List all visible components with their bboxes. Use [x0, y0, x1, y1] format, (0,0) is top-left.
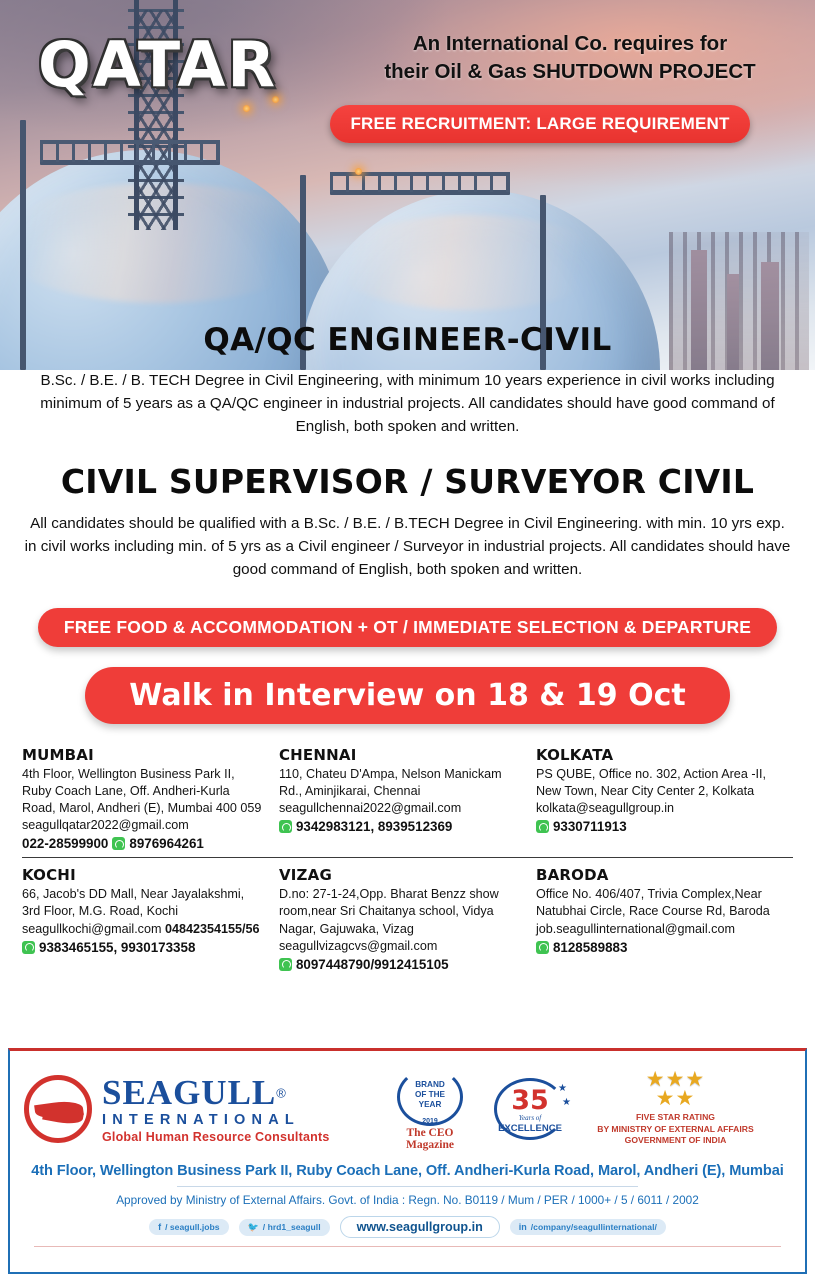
office-mumbai: MUMBAI 4th Floor, Wellington Business Pa… [22, 746, 279, 852]
whatsapp-icon [22, 941, 35, 954]
whatsapp-icon [279, 820, 292, 833]
office-email[interactable]: seagullchennai2022@gmail.com [279, 800, 522, 817]
linkedin-icon: in [519, 1222, 527, 1232]
flare-light-c [355, 168, 362, 175]
footer-approval-text: Approved by Ministry of External Affairs… [10, 1187, 805, 1207]
job-title-1: QA/QC ENGINEER-CIVIL [18, 322, 797, 358]
laurel-wreath-icon: BRAND OF THE YEAR 2019 [397, 1068, 463, 1126]
facebook-link[interactable]: f / seagull.jobs [149, 1219, 228, 1235]
office-phone[interactable]: 04842354155/56 [165, 922, 260, 936]
footer-address: 4th Floor, Wellington Business Park II, … [10, 1159, 805, 1179]
office-city: KOLKATA [536, 746, 779, 764]
whatsapp-icon [112, 837, 125, 850]
walkin-interview-badge: Walk in Interview on 18 & 19 Oct [85, 667, 729, 724]
boty-line-1: BRAND [400, 1080, 460, 1090]
office-phone-line[interactable]: 9383465155, 9930173358 [22, 940, 265, 955]
registered-trademark-icon: ® [276, 1086, 286, 1101]
hero-banner: QATAR An International Co. requires for … [0, 0, 815, 370]
office-phone-line[interactable]: 8128589883 [536, 940, 779, 955]
logo-subtitle: INTERNATIONAL [102, 1113, 329, 1128]
free-recruitment-badge: FREE RECRUITMENT: LARGE REQUIREMENT [330, 105, 750, 143]
whatsapp-icon [536, 941, 549, 954]
office-address: Office No. 406/407, Trivia Complex,Near … [536, 886, 779, 920]
star-row-bottom-icon: ★★ [588, 1090, 763, 1109]
logo-tagline: Global Human Resource Consultants [102, 1131, 329, 1144]
logo-text-block: SEAGULL® INTERNATIONAL Global Human Reso… [102, 1075, 329, 1143]
office-city: CHENNAI [279, 746, 522, 764]
boty-source: The CEO Magazine [388, 1127, 472, 1151]
office-address: PS QUBE, Office no. 302, Action Area -II… [536, 766, 779, 800]
offer-banner-area: FREE FOOD & ACCOMMODATION + OT / IMMEDIA… [0, 582, 815, 647]
advertisement-page: QATAR An International Co. requires for … [0, 0, 815, 1280]
linkedin-link[interactable]: in /company/seagullinternational/ [510, 1219, 666, 1235]
offer-badge: FREE FOOD & ACCOMMODATION + OT / IMMEDIA… [38, 608, 777, 647]
five-star-line-1: FIVE STAR RATING [588, 1112, 763, 1124]
company-footer: SEAGULL® INTERNATIONAL Global Human Reso… [8, 1048, 807, 1274]
social-links-bar: f / seagull.jobs 🐦 / hrd1_seagull www.se… [10, 1207, 805, 1238]
twitter-handle: / hrd1_seagull [263, 1222, 321, 1232]
logo-wordmark: SEAGULL [102, 1075, 276, 1110]
years-excellence-badge: 35 Years of EXCELLENCE ★ ★ [490, 1078, 570, 1140]
office-city: KOCHI [22, 866, 265, 884]
facebook-handle: / seagull.jobs [165, 1222, 219, 1232]
job-listings: QA/QC ENGINEER-CIVIL B.Sc. / B.E. / B. T… [0, 322, 815, 582]
office-baroda: BARODA Office No. 406/407, Trivia Comple… [536, 866, 793, 972]
years-number: 35 [497, 1087, 563, 1114]
five-star-text: FIVE STAR RATING BY MINISTRY OF EXTERNAL… [588, 1112, 763, 1147]
seagull-logo: SEAGULL® INTERNATIONAL Global Human Reso… [24, 1075, 374, 1143]
office-email[interactable]: seagullvizagcvs@gmail.com [279, 938, 522, 955]
star-accent-icon: ★ [558, 1083, 567, 1094]
office-whatsapp[interactable]: 8976964261 [129, 836, 203, 851]
five-star-line-3: GOVERNMENT OF INDIA [588, 1135, 763, 1147]
headline-line-1: An International Co. requires for [350, 30, 790, 58]
boty-line-3: YEAR [400, 1100, 460, 1110]
office-address: 110, Chateu D'Ampa, Nelson Manickam Rd.,… [279, 766, 522, 800]
office-kolkata: KOLKATA PS QUBE, Office no. 302, Action … [536, 746, 793, 852]
office-address: 66, Jacob's DD Mall, Near Jayalakshmi, 3… [22, 886, 265, 920]
office-whatsapp[interactable]: 9383465155, 9930173358 [39, 940, 195, 955]
seagull-bird-icon [24, 1075, 92, 1143]
whatsapp-icon [536, 820, 549, 833]
contact-offices: MUMBAI 4th Floor, Wellington Business Pa… [0, 746, 815, 972]
flare-light-a [243, 105, 250, 112]
brand-of-the-year-badge: BRAND OF THE YEAR 2019 The CEO Magazine [388, 1068, 472, 1151]
office-chennai: CHENNAI 110, Chateu D'Ampa, Nelson Manic… [279, 746, 536, 852]
office-email[interactable]: seagullqatar2022@gmail.com [22, 817, 265, 834]
office-phone[interactable]: 022-28599900 [22, 836, 108, 851]
tank-highlight-right [330, 215, 610, 310]
award-badges: BRAND OF THE YEAR 2019 The CEO Magazine … [388, 1068, 763, 1151]
office-phone-line[interactable]: 022-28599900 8976964261 [22, 836, 265, 851]
job-description-1: B.Sc. / B.E. / B. TECH Degree in Civil E… [18, 370, 797, 438]
five-star-line-2: BY MINISTRY OF EXTERNAL AFFAIRS [588, 1124, 763, 1136]
contact-row-top: MUMBAI 4th Floor, Wellington Business Pa… [22, 746, 793, 859]
footer-bottom-rule [34, 1246, 781, 1247]
star-accent-icon-2: ★ [562, 1097, 571, 1108]
boty-line-2: OF THE [400, 1090, 460, 1100]
country-title: QATAR [38, 28, 277, 101]
office-kochi: KOCHI 66, Jacob's DD Mall, Near Jayalaks… [22, 866, 279, 972]
excellence-label: EXCELLENCE [497, 1123, 563, 1134]
whatsapp-icon [279, 958, 292, 971]
office-address: 4th Floor, Wellington Business Park II, … [22, 766, 265, 817]
job-title-2: CIVIL SUPERVISOR / SURVEYOR CIVIL [18, 462, 797, 501]
boty-year: 2019 [400, 1118, 460, 1125]
office-city: BARODA [536, 866, 779, 884]
office-email-phone[interactable]: seagullkochi@gmail.com 04842354155/56 [22, 921, 265, 938]
railing-right [330, 172, 510, 192]
office-whatsapp[interactable]: 9330711913 [553, 819, 627, 834]
five-star-rating-badge: ★★★ ★★ FIVE STAR RATING BY MINISTRY OF E… [588, 1071, 763, 1147]
contact-row-bottom: KOCHI 66, Jacob's DD Mall, Near Jayalaks… [22, 858, 793, 972]
office-email[interactable]: job.seagullinternational@gmail.com [536, 921, 779, 938]
office-address: D.no: 27-1-24,Opp. Bharat Benzz show roo… [279, 886, 522, 937]
linkedin-handle: /company/seagullinternational/ [531, 1222, 657, 1232]
twitter-icon: 🐦 [248, 1222, 259, 1233]
office-email[interactable]: seagullkochi@gmail.com [22, 922, 161, 936]
footer-logo-badges: SEAGULL® INTERNATIONAL Global Human Reso… [10, 1051, 805, 1159]
twitter-link[interactable]: 🐦 / hrd1_seagull [239, 1219, 330, 1236]
office-vizag: VIZAG D.no: 27-1-24,Opp. Bharat Benzz sh… [279, 866, 536, 972]
headline-line-2: their Oil & Gas SHUTDOWN PROJECT [350, 58, 790, 86]
office-phone-line[interactable]: 9330711913 [536, 819, 779, 834]
railing-left [40, 140, 220, 162]
website-link[interactable]: www.seagullgroup.in [340, 1216, 500, 1238]
office-whatsapp[interactable]: 9342983121, 8939512369 [296, 819, 452, 834]
office-city: MUMBAI [22, 746, 265, 764]
office-city: VIZAG [279, 866, 522, 884]
facebook-icon: f [158, 1222, 161, 1232]
office-whatsapp[interactable]: 8128589883 [553, 940, 627, 955]
banner-headline: An International Co. requires for their … [350, 30, 790, 87]
years-label: Years of [497, 1114, 563, 1122]
excellence-ring-icon: 35 Years of EXCELLENCE ★ ★ [494, 1078, 566, 1140]
office-email[interactable]: kolkata@seagullgroup.in [536, 800, 779, 817]
badge-text: BRAND OF THE YEAR [400, 1080, 460, 1111]
office-phone-line[interactable]: 9342983121, 8939512369 [279, 819, 522, 834]
office-whatsapp[interactable]: 8097448790/9912415105 [296, 957, 449, 972]
walkin-banner-area: Walk in Interview on 18 & 19 Oct [0, 647, 815, 724]
office-phone-line[interactable]: 8097448790/9912415105 [279, 957, 522, 972]
job-description-2: All candidates should be qualified with … [18, 513, 797, 581]
